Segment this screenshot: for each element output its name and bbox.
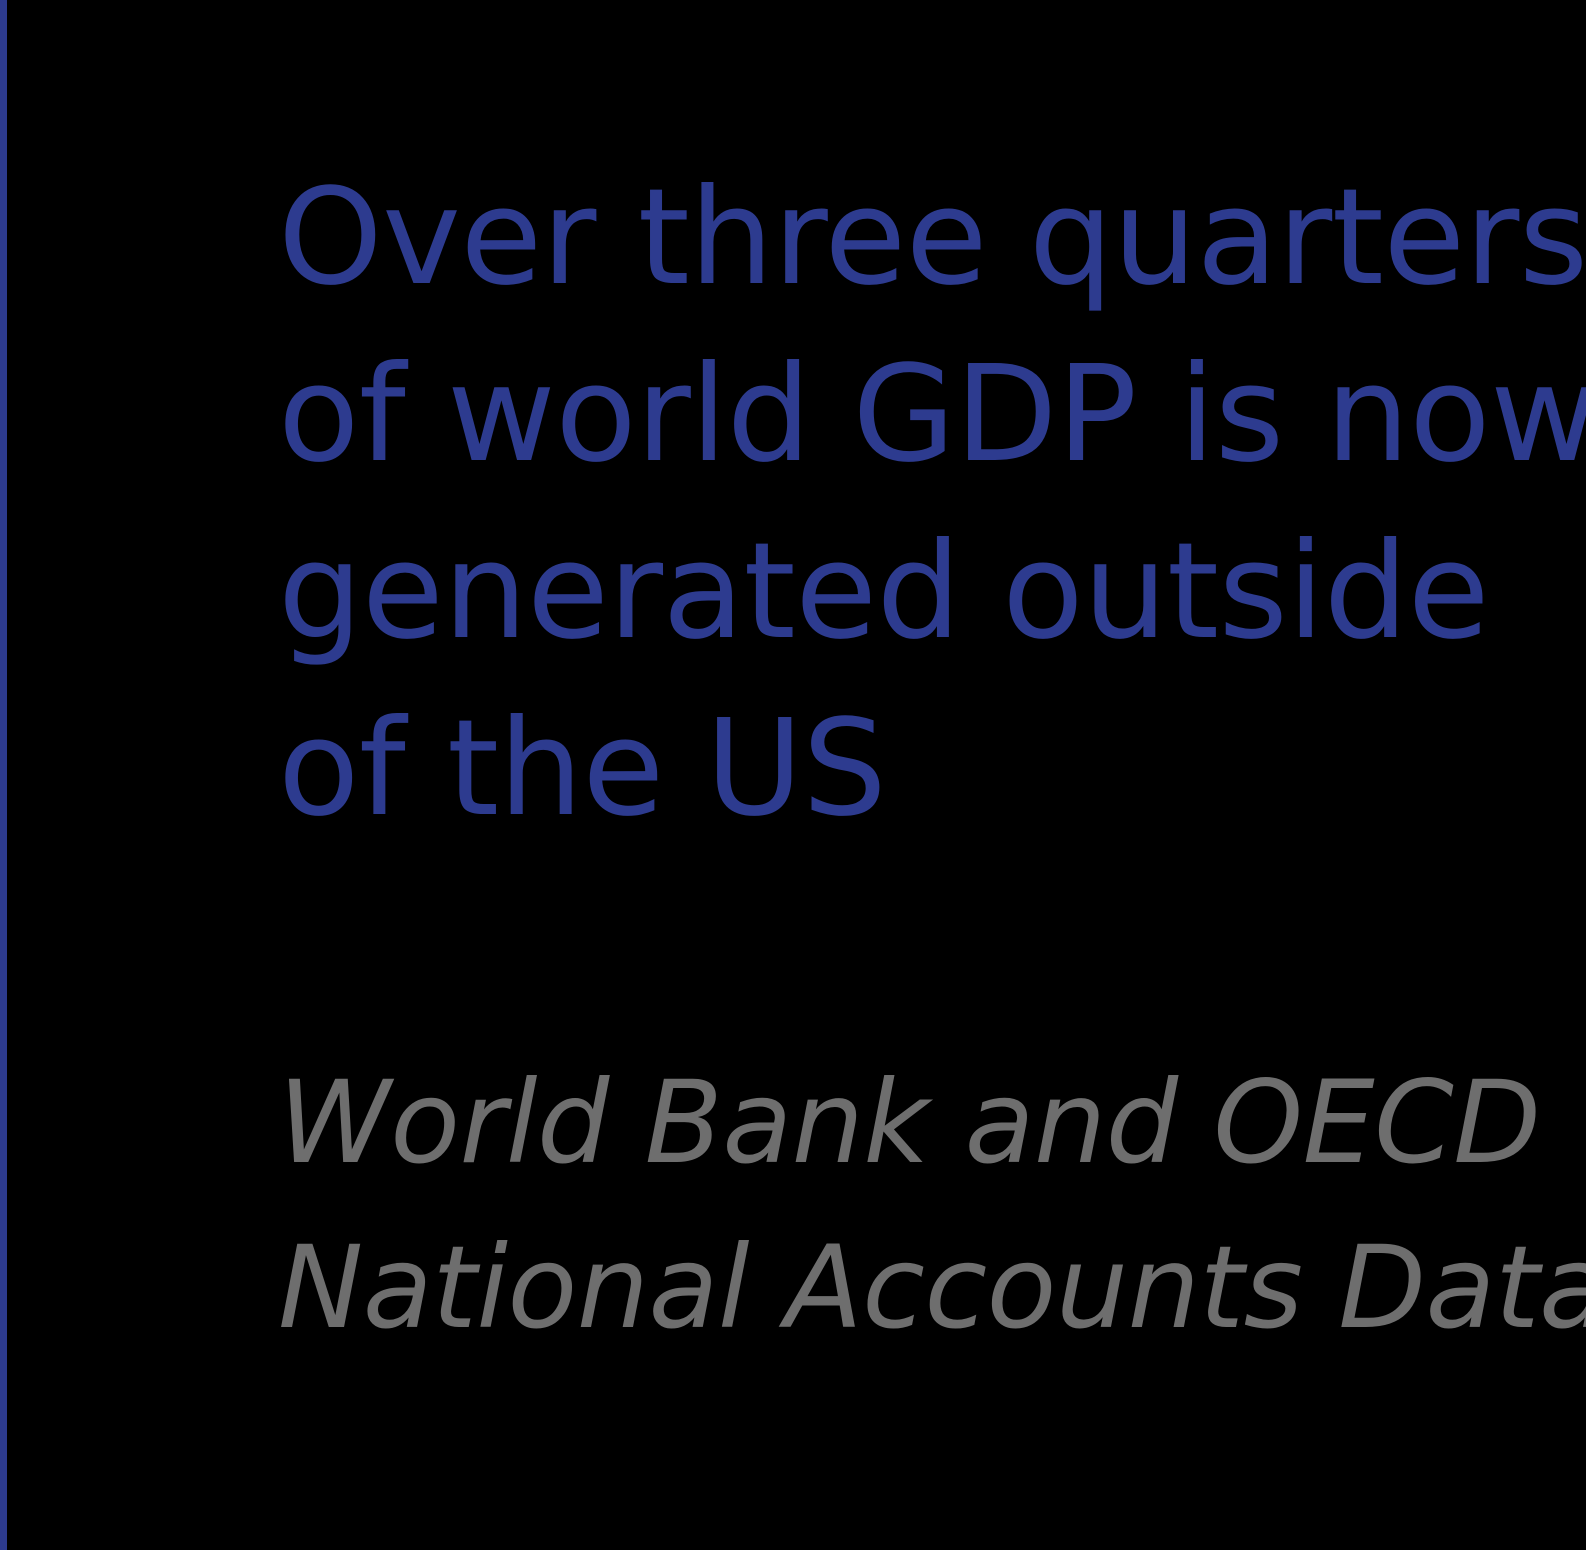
headline-line-3: generated outside xyxy=(278,504,1586,681)
attribution-line-2: National Accounts Data xyxy=(278,1205,1586,1370)
slide-canvas: Over three quarters of world GDP is now … xyxy=(0,0,1586,1550)
headline-line-1: Over three quarters xyxy=(278,150,1586,327)
attribution-line-1: World Bank and OECD xyxy=(278,1040,1586,1205)
headline-line-2: of world GDP is now xyxy=(278,327,1586,504)
source-attribution: World Bank and OECD National Accounts Da… xyxy=(278,1040,1586,1370)
left-accent-rule xyxy=(0,0,7,1550)
headline-line-4: of the US xyxy=(278,681,1586,858)
headline: Over three quarters of world GDP is now … xyxy=(278,150,1586,858)
